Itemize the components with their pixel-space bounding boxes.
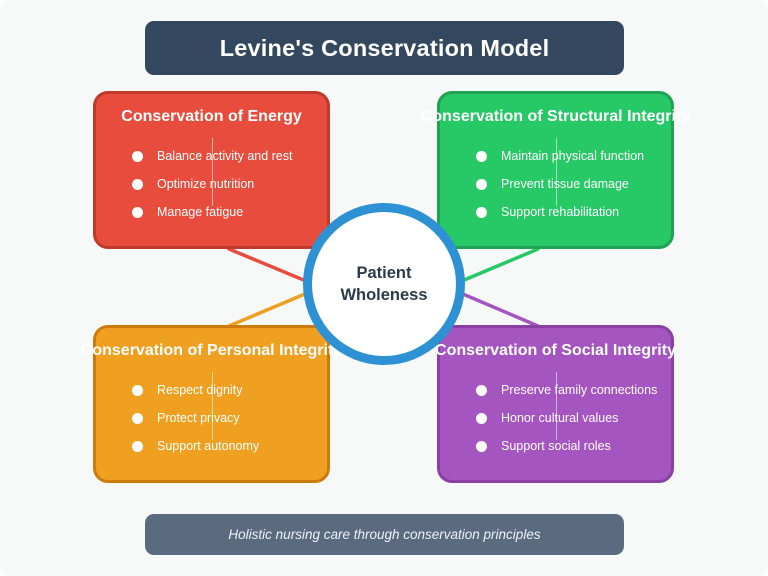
list-item: Honor cultural values xyxy=(476,404,661,432)
list-item: Manage fatigue xyxy=(132,198,317,226)
card-item-list: Respect dignity Protect privacy Support … xyxy=(132,376,317,460)
list-item-label: Optimize nutrition xyxy=(157,177,254,191)
list-item: Protect privacy xyxy=(132,404,317,432)
diagram-canvas: Levine's Conservation Model Conservation… xyxy=(0,0,768,576)
list-item-label: Maintain physical function xyxy=(501,149,644,163)
list-item: Preserve family connections xyxy=(476,376,661,404)
list-item-label: Prevent tissue damage xyxy=(501,177,629,191)
list-item-label: Respect dignity xyxy=(157,383,242,397)
bullet-icon xyxy=(476,441,487,452)
bullet-icon xyxy=(132,207,143,218)
bullet-icon xyxy=(132,179,143,190)
card-title: Conservation of Social Integrity xyxy=(435,342,676,360)
card-title: Conservation of Personal Integrity xyxy=(81,342,342,360)
list-item: Optimize nutrition xyxy=(132,170,317,198)
list-item: Respect dignity xyxy=(132,376,317,404)
list-item: Prevent tissue damage xyxy=(476,170,661,198)
center-node-patient-wholeness[interactable]: Patient Wholeness xyxy=(303,203,465,365)
list-item: Maintain physical function xyxy=(476,142,661,170)
list-item-label: Support social roles xyxy=(501,439,611,453)
list-item: Support autonomy xyxy=(132,432,317,460)
list-item-label: Balance activity and rest xyxy=(157,149,293,163)
bullet-icon xyxy=(132,413,143,424)
bullet-icon xyxy=(476,151,487,162)
bullet-icon xyxy=(476,207,487,218)
list-item-label: Protect privacy xyxy=(157,411,240,425)
list-item-label: Manage fatigue xyxy=(157,205,243,219)
card-conservation-of-social-integrity[interactable]: Conservation of Social Integrity Preserv… xyxy=(437,325,674,483)
card-conservation-of-structural-integrity[interactable]: Conservation of Structural Integrity Mai… xyxy=(437,91,674,249)
footer-caption: Holistic nursing care through conservati… xyxy=(228,527,540,542)
card-title: Conservation of Structural Integrity xyxy=(421,108,690,126)
center-label-line1: Patient xyxy=(356,262,411,284)
list-item: Support social roles xyxy=(476,432,661,460)
center-label-line2: Wholeness xyxy=(340,284,427,306)
list-item: Support rehabilitation xyxy=(476,198,661,226)
list-item-label: Preserve family connections xyxy=(501,383,657,397)
bullet-icon xyxy=(476,385,487,396)
list-item-label: Support autonomy xyxy=(157,439,259,453)
card-item-list: Preserve family connections Honor cultur… xyxy=(476,376,661,460)
card-conservation-of-energy[interactable]: Conservation of Energy Balance activity … xyxy=(93,91,330,249)
list-item: Balance activity and rest xyxy=(132,142,317,170)
bullet-icon xyxy=(476,413,487,424)
card-item-list: Maintain physical function Prevent tissu… xyxy=(476,142,661,226)
list-item-label: Support rehabilitation xyxy=(501,205,619,219)
card-title: Conservation of Energy xyxy=(121,108,301,126)
bullet-icon xyxy=(476,179,487,190)
card-conservation-of-personal-integrity[interactable]: Conservation of Personal Integrity Respe… xyxy=(93,325,330,483)
card-item-list: Balance activity and rest Optimize nutri… xyxy=(132,142,317,226)
bullet-icon xyxy=(132,441,143,452)
bullet-icon xyxy=(132,385,143,396)
bullet-icon xyxy=(132,151,143,162)
list-item-label: Honor cultural values xyxy=(501,411,618,425)
footer-bar: Holistic nursing care through conservati… xyxy=(145,514,624,555)
